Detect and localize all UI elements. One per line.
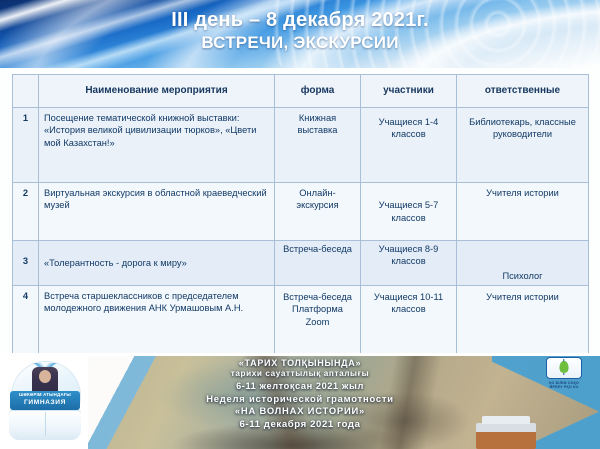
cell-form: Онлайн-экскурсия [275, 183, 361, 241]
column-header-name: Наименование мероприятия [39, 75, 275, 108]
cell-name: «Толерантность - дорога к миру» [39, 241, 275, 286]
table-row: 4 Встреча старшеклассников с председател… [13, 286, 589, 364]
cell-participants: Учащиеся 1-4 классов [361, 108, 457, 183]
cell-form: Книжная выставка [275, 108, 361, 183]
footer-podium-graphic [476, 423, 536, 449]
cell-participants: Учащиеся 5-7 классов [361, 183, 457, 241]
table-row: 1 Посещение тематической книжной выставк… [13, 108, 589, 183]
slide-root: III день – 8 декабря 2021г. ВСТРЕЧИ, ЭКС… [0, 0, 600, 449]
table-header-row: Наименование мероприятия форма участники… [13, 75, 589, 108]
agenda-table: Наименование мероприятия форма участники… [12, 74, 589, 364]
table-row: 2 Виртуальная экскурсия в областной крае… [13, 183, 589, 241]
logo-name-line-1: ШӘКӘРІМ АТЫНДАҒЫ [10, 392, 80, 397]
cell-form: Встреча-беседа Платформа Zoom [275, 286, 361, 364]
logo-open-book-icon [9, 410, 81, 440]
emblem-label-line-1: ҚО БІЛІМ СОҚО [549, 381, 579, 385]
open-book-emblem-icon [546, 357, 582, 379]
cell-number: 3 [13, 241, 39, 286]
cell-responsible: Учителя истории [457, 286, 589, 364]
cell-participants: Учащиеся 8-9 классов [361, 241, 457, 286]
logo-portrait-face [39, 370, 51, 383]
cell-name: Посещение тематической книжной выставки:… [39, 108, 275, 183]
column-header-participants: участники [361, 75, 457, 108]
logo-name-line-2: ГИМНАЗИЯ [10, 399, 80, 406]
cell-responsible: Библиотекарь, классные руководители [457, 108, 589, 183]
column-header-form: форма [275, 75, 361, 108]
cell-name: Виртуальная экскурсия в областной краеве… [39, 183, 275, 241]
logo-name-band: ШӘКӘРІМ АТЫНДАҒЫ ГИМНАЗИЯ [10, 391, 80, 410]
cell-name: Встреча старшеклассников с председателем… [39, 286, 275, 364]
title-line-1: III день – 8 декабря 2021г. [0, 9, 600, 33]
emblem-leaf-icon [560, 361, 569, 373]
emblem-label-line-2: ӨРЛЕУ РҚО КО [550, 385, 579, 389]
title-line-2: ВСТРЕЧИ, ЭКСКУРСИИ [0, 33, 600, 53]
banner-line-kz-dates: 6-11 желтоқсан 2021 жыл [0, 381, 600, 393]
cell-form: Встреча-беседа [275, 241, 361, 286]
column-header-responsible: ответственные [457, 75, 589, 108]
banner-line-ru-subtitle: Неделя исторической грамотности [0, 393, 600, 405]
cell-responsible: Учителя истории [457, 183, 589, 241]
table-row: 3 «Толерантность - дорога к миру» Встреч… [13, 241, 589, 286]
gymnasium-logo: ШӘКӘРІМ АТЫНДАҒЫ ГИМНАЗИЯ [2, 355, 88, 447]
banner-line-kz-subtitle: тарихи сауаттылық апталығы [0, 369, 600, 379]
cell-responsible: Психолог [457, 241, 589, 286]
footer-banner: «ТАРИХ ТОЛҚЫНЫНДА» тарихи сауаттылық апт… [0, 353, 600, 449]
banner-line-kz-title: «ТАРИХ ТОЛҚЫНЫНДА» [0, 358, 600, 369]
emblem-label: ҚО БІЛІМ СОҚО ӨРЛЕУ РҚО КО [536, 381, 592, 391]
cell-number: 2 [13, 183, 39, 241]
column-header-number [13, 75, 39, 108]
page-title: III день – 8 декабря 2021г. ВСТРЕЧИ, ЭКС… [0, 9, 600, 53]
cell-participants: Учащиеся 10-11 классов [361, 286, 457, 364]
cell-number: 1 [13, 108, 39, 183]
cell-number: 4 [13, 286, 39, 364]
agenda-table-container: Наименование мероприятия форма участники… [12, 74, 588, 364]
partner-emblem: ҚО БІЛІМ СОҚО ӨРЛЕУ РҚО КО [536, 357, 592, 391]
slide-header-banner: III день – 8 декабря 2021г. ВСТРЕЧИ, ЭКС… [0, 0, 600, 68]
